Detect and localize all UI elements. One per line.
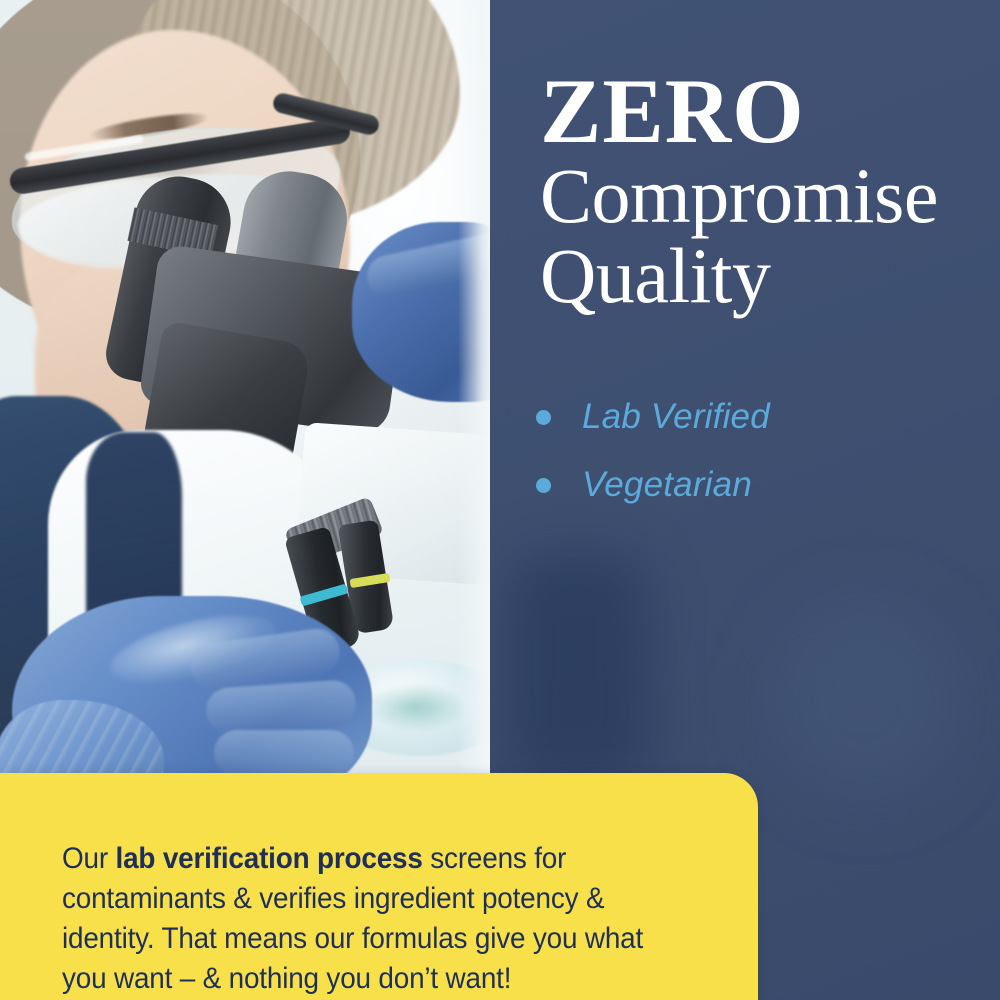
promo-poster: ZERO Compromise Quality Lab Verified Veg… (0, 0, 1000, 1000)
headline-line-compromise: Compromise (540, 156, 990, 236)
navy-panel-glow-shape (770, 600, 960, 800)
bullet-label-vegetarian: Vegetarian (582, 465, 752, 505)
feature-bullet-list: Lab Verified Vegetarian (536, 383, 976, 519)
petri-dish-sample (368, 684, 464, 730)
navy-panel-shadow-shape (508, 552, 648, 782)
bullet-dot-icon (536, 478, 551, 493)
callout-text-run-0: Our (62, 842, 116, 875)
headline-line-quality: Quality (540, 236, 990, 316)
callout-paragraph: Our lab verification process screens for… (62, 839, 676, 999)
headline-emphasis-zero: ZERO (540, 66, 990, 156)
page-title: ZERO Compromise Quality (540, 66, 990, 317)
yellow-callout-box: Our lab verification process screens for… (0, 773, 758, 1000)
gloved-finger-3 (214, 730, 354, 776)
list-item: Vegetarian (536, 451, 976, 519)
bullet-dot-icon (536, 410, 551, 425)
bullet-label-lab-verified: Lab Verified (582, 397, 770, 437)
list-item: Lab Verified (536, 383, 976, 451)
callout-bold-phrase: lab verification process (116, 842, 423, 875)
